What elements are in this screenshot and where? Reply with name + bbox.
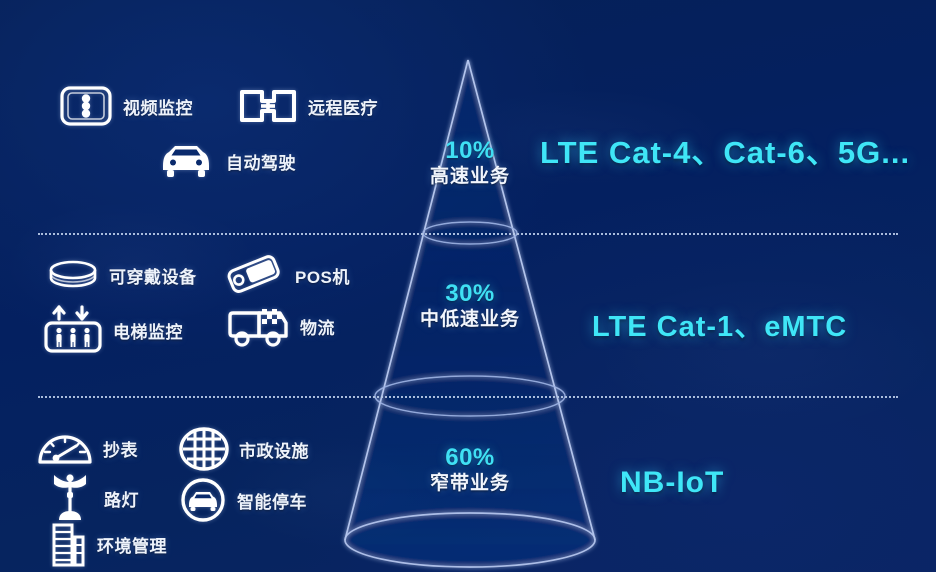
app-item-meter-reading[interactable]: 抄表 [36, 428, 138, 468]
tier-divider-bottom [38, 396, 898, 398]
app-label: 市政设施 [239, 437, 309, 462]
app-label: 环境管理 [97, 532, 167, 557]
diagram-canvas: 视频监控 远程医疗 自动驾驶 10% 高速业务 LTE Cat-4、Cat-6、… [0, 0, 936, 572]
app-label: 视频监控 [123, 94, 193, 119]
app-label: 远程医疗 [308, 94, 378, 119]
app-label: 抄表 [103, 436, 138, 461]
app-item-logistics[interactable]: 物流 [225, 303, 335, 349]
pos-terminal-icon [222, 252, 286, 298]
app-item-smart-parking[interactable]: 智能停车 [178, 477, 307, 523]
telemedicine-icon [237, 86, 299, 126]
app-item-elevator-monitoring[interactable]: 电梯监控 [42, 305, 183, 355]
tier-name: 中低速业务 [420, 307, 520, 333]
tech-label-mid-low: LTE Cat-1、eMTC [592, 303, 847, 345]
app-item-autonomous-driving[interactable]: 自动驾驶 [155, 140, 296, 182]
app-item-video-surveillance[interactable]: 视频监控 [58, 84, 193, 128]
meter-gauge-icon [36, 428, 94, 468]
app-item-environment-management[interactable]: 环境管理 [48, 521, 167, 567]
app-item-telemedicine[interactable]: 远程医疗 [237, 86, 378, 126]
elevator-icon [42, 305, 104, 355]
tier-name: 高速业务 [430, 164, 510, 190]
app-label: 可穿戴设备 [109, 263, 197, 288]
tier-mid-low-callout: 30% 中低速业务 [420, 281, 520, 333]
app-label: POS机 [295, 263, 350, 288]
car-icon [155, 140, 217, 182]
tier-narrowband-callout: 60% 窄带业务 [430, 445, 510, 497]
tech-label-narrowband: NB-IoT [620, 466, 724, 500]
tier-percent: 30% [420, 281, 520, 307]
building-icon [48, 521, 88, 567]
app-label: 物流 [300, 314, 335, 339]
wearable-band-icon [46, 258, 100, 292]
app-item-pos-terminal[interactable]: POS机 [222, 252, 350, 298]
app-label: 电梯监控 [113, 318, 183, 343]
app-item-municipal-facilities[interactable]: 市政设施 [178, 426, 309, 472]
tier-high-speed-callout: 10% 高速业务 [430, 138, 510, 190]
app-label: 自动驾驶 [226, 149, 296, 174]
app-item-street-lamp[interactable]: 路灯 [45, 472, 139, 524]
app-label: 智能停车 [237, 488, 307, 513]
tier-percent: 10% [430, 138, 510, 164]
tier-name: 窄带业务 [430, 471, 510, 497]
delivery-truck-icon [225, 303, 291, 349]
traffic-light-icon [58, 84, 114, 128]
smart-parking-icon [178, 477, 228, 523]
tech-label-high-speed: LTE Cat-4、Cat-6、5G... [540, 127, 910, 172]
app-item-wearable[interactable]: 可穿戴设备 [46, 258, 197, 292]
tier-divider-top [38, 233, 898, 235]
street-lamp-icon [45, 472, 95, 524]
manhole-grid-icon [178, 426, 230, 472]
tier-percent: 60% [430, 445, 510, 471]
app-label: 路灯 [104, 486, 139, 511]
